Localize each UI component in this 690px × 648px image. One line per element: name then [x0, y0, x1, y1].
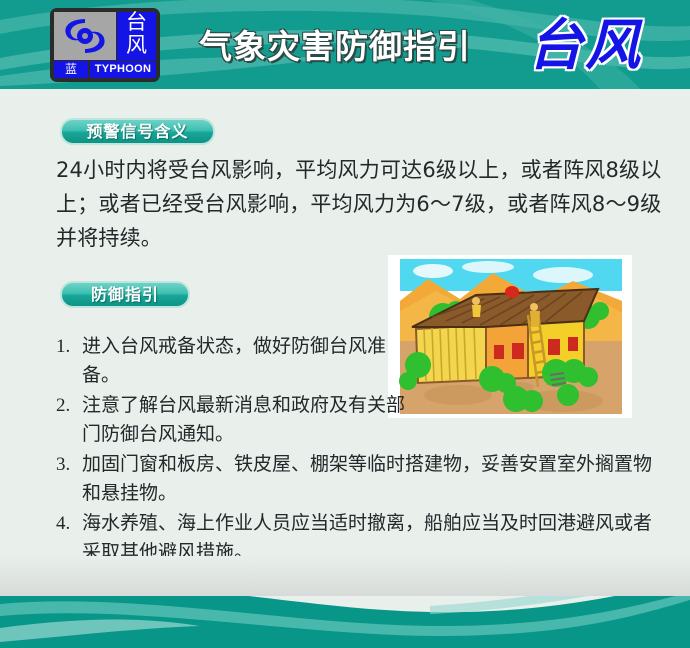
list-item: 3. 加固门窗和板房、铁皮屋、棚架等临时搭建物，妥善安置室外搁置物和悬挂物。	[56, 450, 660, 508]
logo-level-label: 蓝	[54, 61, 88, 78]
hazard-keyword: 台风	[505, 6, 665, 84]
header-band: 台风 蓝 TYPHOON 气象灾害防御指引 台风	[0, 0, 690, 89]
poster-root: 台风 蓝 TYPHOON 气象灾害防御指引 台风 预警信号含义 24小时内将受台…	[0, 0, 690, 648]
logo-en-label: TYPHOON	[90, 61, 156, 78]
list-item: 2. 注意了解台风最新消息和政府及有关部门防御台风通知。	[56, 391, 412, 449]
footer-wave-decoration	[0, 556, 690, 648]
typhoon-spiral-icon	[54, 12, 116, 60]
list-item-number: 3.	[56, 450, 78, 479]
list-item-number: 1.	[56, 332, 78, 361]
logo-top-row: 台风	[54, 12, 156, 60]
list-item-number: 4.	[56, 509, 78, 538]
defense-guide-list: 1. 进入台风戒备状态，做好防御台风准备。 2. 注意了解台风最新消息和政府及有…	[56, 332, 660, 568]
logo-cn-label: 台风	[117, 11, 156, 59]
badge-defense-guide-label: 防御指引	[62, 283, 188, 306]
badge-warning-meaning: 预警信号含义	[60, 118, 215, 145]
page-title: 气象灾害防御指引	[170, 23, 500, 71]
list-item-text: 加固门窗和板房、铁皮屋、棚架等临时搭建物，妥善安置室外搁置物和悬挂物。	[82, 453, 652, 504]
list-item-number: 2.	[56, 391, 78, 420]
list-item-text: 进入台风戒备状态，做好防御台风准备。	[82, 335, 386, 386]
warning-meaning-text: 24小时内将受台风影响，平均风力可达6级以上，或者阵风8级以上；或者已经受台风影…	[56, 153, 666, 255]
list-item: 1. 进入台风戒备状态，做好防御台风准备。	[56, 332, 412, 390]
logo-bottom-row: 蓝 TYPHOON	[54, 61, 156, 78]
footer-gradient	[0, 556, 690, 596]
badge-warning-meaning-label: 预警信号含义	[62, 120, 213, 143]
typhoon-warning-logo: 台风 蓝 TYPHOON	[50, 8, 160, 82]
typhoon-spiral-glyph	[54, 12, 116, 60]
logo-cn-box: 台风	[117, 12, 156, 60]
badge-defense-guide: 防御指引	[60, 281, 190, 308]
list-item-text: 注意了解台风最新消息和政府及有关部门防御台风通知。	[82, 394, 405, 445]
